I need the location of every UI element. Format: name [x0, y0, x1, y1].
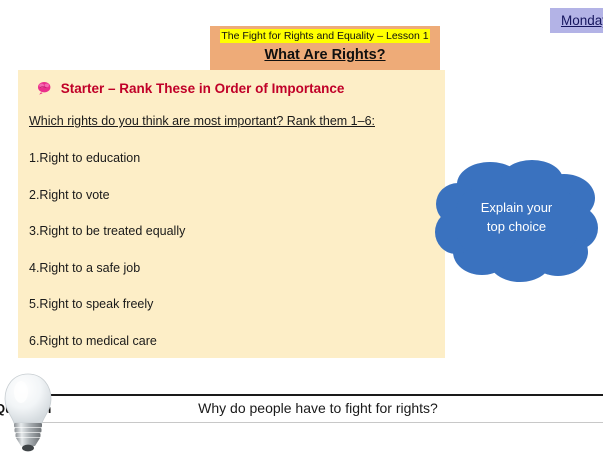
list-item: 5.Right to speak freely — [29, 296, 429, 333]
starter-heading-label: Starter – Rank These in Order of Importa… — [61, 81, 345, 96]
title-banner: The Fight for Rights and Equality – Less… — [210, 26, 440, 70]
list-item: 4.Right to a safe job — [29, 260, 429, 297]
starter-heading: Starter – Rank These in Order of Importa… — [37, 81, 344, 98]
list-item: 1.Right to education — [29, 150, 429, 187]
slide-canvas: Monday The Fight for Rights and Equality… — [0, 0, 603, 452]
list-item: 3.Right to be treated equally — [29, 223, 429, 260]
list-item: 6.Right to medical care — [29, 333, 429, 370]
question-bar-top-divider — [33, 394, 603, 396]
page-title: What Are Rights? — [210, 46, 440, 65]
list-item: 2.Right to vote — [29, 187, 429, 224]
question-text: Why do people have to fight for rights? — [33, 400, 603, 416]
cloud-shape — [434, 158, 599, 284]
lightbulb-icon — [0, 372, 56, 452]
brain-icon — [37, 81, 52, 98]
question-bar-bottom-divider — [33, 422, 603, 423]
day-label: Monday — [550, 8, 603, 33]
cloud-callout: Explain your top choice — [434, 158, 599, 284]
lesson-subtitle: The Fight for Rights and Equality – Less… — [220, 29, 429, 43]
starter-panel: Starter – Rank These in Order of Importa… — [18, 70, 445, 358]
starter-instruction: Which rights do you think are most impor… — [29, 114, 375, 128]
rights-ranking-list: 1.Right to education 2.Right to vote 3.R… — [29, 150, 429, 369]
